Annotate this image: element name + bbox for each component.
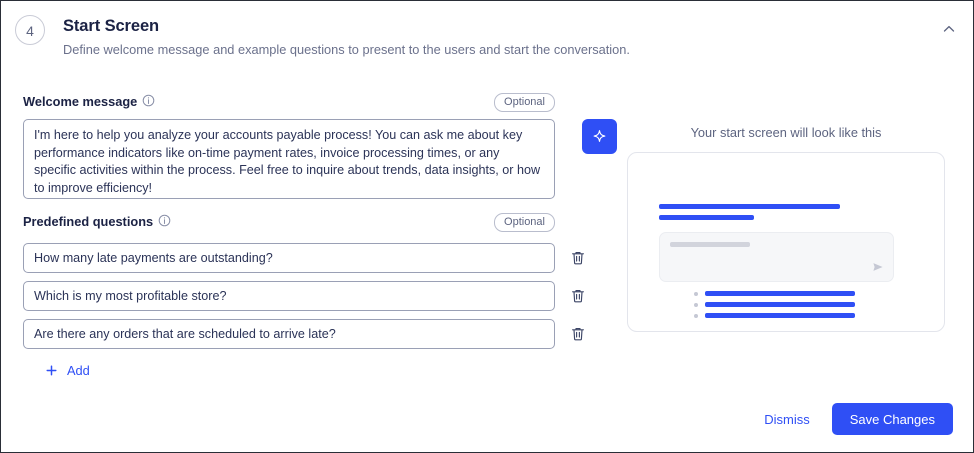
send-icon xyxy=(872,261,884,273)
preview-input-placeholder xyxy=(670,242,750,247)
preview-question-bar xyxy=(705,291,855,296)
dismiss-button[interactable]: Dismiss xyxy=(756,406,818,433)
welcome-message-input[interactable] xyxy=(23,119,555,199)
plus-icon xyxy=(45,364,58,377)
delete-question-button[interactable] xyxy=(569,325,587,343)
question-input[interactable] xyxy=(23,319,555,349)
bullet-dot-icon xyxy=(694,314,698,318)
page-title: Start Screen xyxy=(63,17,159,36)
bullet-dot-icon xyxy=(694,303,698,307)
bullet-dot-icon xyxy=(694,292,698,296)
form-column: Welcome message Optional Predefined ques… xyxy=(23,93,598,378)
predefined-questions-label-row: Predefined questions Optional xyxy=(23,213,555,235)
preview-welcome-line-2 xyxy=(659,215,754,220)
save-changes-button[interactable]: Save Changes xyxy=(832,403,953,435)
question-row xyxy=(23,243,598,273)
trash-icon xyxy=(569,287,587,305)
welcome-message-row xyxy=(23,119,598,201)
step-number-badge: 4 xyxy=(15,15,45,45)
question-input[interactable] xyxy=(23,243,555,273)
question-row xyxy=(23,319,598,349)
panel-header: 4 Start Screen Define welcome message an… xyxy=(1,1,974,75)
preview-caption: Your start screen will look like this xyxy=(627,125,945,140)
question-input[interactable] xyxy=(23,281,555,311)
trash-icon xyxy=(569,325,587,343)
info-icon[interactable] xyxy=(142,94,155,107)
add-question-button[interactable]: Add xyxy=(45,363,115,378)
welcome-optional-badge: Optional xyxy=(494,93,555,112)
info-icon[interactable] xyxy=(158,214,171,227)
trash-icon xyxy=(569,249,587,267)
predefined-optional-badge: Optional xyxy=(494,213,555,232)
generate-welcome-message-button[interactable] xyxy=(582,119,617,154)
preview-chat-input xyxy=(659,232,894,282)
preview-question-bullet xyxy=(694,291,855,296)
welcome-message-label-row: Welcome message Optional xyxy=(23,93,555,115)
start-screen-panel: 4 Start Screen Define welcome message an… xyxy=(0,0,974,453)
preview-welcome-line-1 xyxy=(659,204,840,209)
panel-footer: Dismiss Save Changes xyxy=(756,403,953,435)
page-subtitle: Define welcome message and example quest… xyxy=(63,42,630,57)
preview-question-bullet xyxy=(694,313,855,318)
predefined-questions-section: Predefined questions Optional xyxy=(23,213,598,378)
question-row xyxy=(23,281,598,311)
delete-question-button[interactable] xyxy=(569,249,587,267)
add-question-label: Add xyxy=(67,363,90,378)
delete-question-button[interactable] xyxy=(569,287,587,305)
chevron-up-icon[interactable] xyxy=(941,21,957,37)
start-screen-preview: Your start screen will look like this xyxy=(627,125,945,332)
sparkle-icon xyxy=(591,128,608,145)
predefined-questions-label: Predefined questions xyxy=(23,214,153,229)
preview-question-bar xyxy=(705,313,855,318)
welcome-message-label: Welcome message xyxy=(23,94,137,109)
preview-question-bullet xyxy=(694,302,855,307)
preview-card xyxy=(627,152,945,332)
preview-question-bar xyxy=(705,302,855,307)
